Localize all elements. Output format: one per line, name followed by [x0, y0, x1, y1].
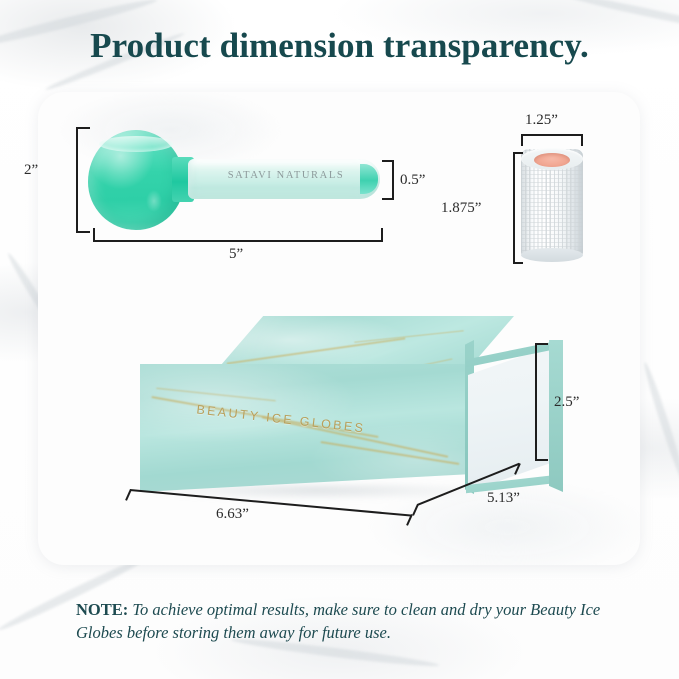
gold-vein: [354, 330, 464, 343]
roller-diameter-label: 1.25”: [525, 112, 558, 129]
roller-height-label: 1.875”: [441, 200, 481, 217]
note-body: To achieve optimal results, make sure to…: [76, 600, 600, 642]
wand-length-bracket: [93, 228, 383, 242]
globe-ball: [88, 130, 184, 230]
roller-inner-cavity: [534, 153, 570, 167]
gold-vein: [227, 337, 405, 364]
wand-diameter-bracket: [382, 160, 394, 200]
roller-bottom-edge: [521, 248, 583, 262]
wand-height-label: 2”: [24, 162, 38, 179]
box-height-bracket: [535, 343, 548, 461]
note-label: NOTE:: [76, 600, 128, 619]
globe-highlight: [146, 190, 162, 212]
brand-text: SATAVI NATURALS: [216, 170, 356, 181]
marble-vein: [641, 361, 679, 487]
globe-rim: [99, 136, 173, 152]
box-height-label: 2.5”: [554, 394, 579, 411]
ice-globe-wand-illustration: SATAVI NATURALS: [88, 126, 388, 232]
gift-box-illustration: BEAUTY ICE GLOBES: [140, 316, 560, 506]
note-text: NOTE: To achieve optimal results, make s…: [76, 598, 604, 645]
roller-height-bracket: [513, 152, 523, 264]
roller-diameter-bracket: [521, 134, 583, 146]
wand-diameter-label: 0.5”: [400, 172, 425, 189]
wand-height-bracket: [76, 127, 90, 233]
silicone-roller-illustration: [521, 149, 583, 259]
box-side-right-edge: [549, 340, 563, 492]
box-width-label: 6.63”: [216, 506, 249, 523]
box-depth-label: 5.13”: [487, 490, 520, 507]
wand-length-label: 5”: [229, 246, 243, 263]
page-title: Product dimension transparency.: [0, 26, 679, 66]
